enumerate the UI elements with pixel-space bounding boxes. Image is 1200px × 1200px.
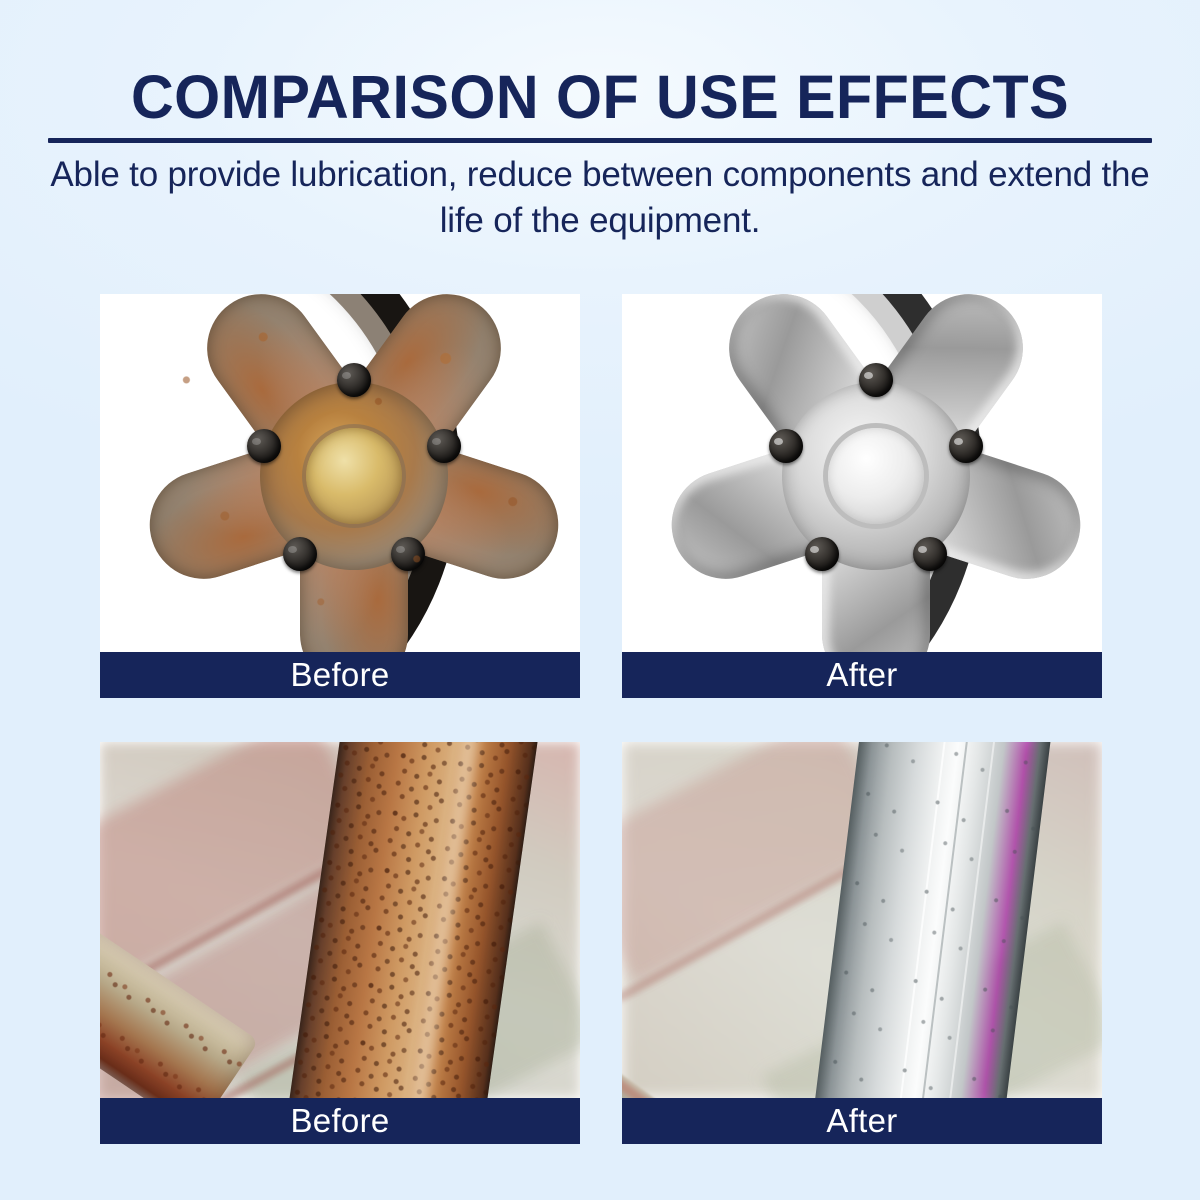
lug-nut (913, 537, 947, 571)
clean-pipe-illustration (622, 742, 1102, 1098)
pipe-before-image (100, 742, 580, 1098)
header: COMPARISON OF USE EFFECTS Able to provid… (0, 0, 1200, 130)
lug-nut (949, 429, 983, 463)
lug-nut (391, 537, 425, 571)
panel-wheel-before: Before (100, 294, 580, 698)
comparison-infographic: COMPARISON OF USE EFFECTS Able to provid… (0, 0, 1200, 1200)
pipe-after-image (622, 742, 1102, 1098)
lug-nut (247, 429, 281, 463)
wheel-after-image (622, 294, 1102, 652)
clean-wheel-illustration (622, 294, 1102, 652)
panel-label-after: After (622, 1098, 1102, 1144)
lug-nut (859, 363, 893, 397)
lug-nut (769, 429, 803, 463)
lug-nut (283, 537, 317, 571)
panel-wheel-after: After (622, 294, 1102, 698)
wheel-face (204, 326, 504, 626)
panel-label-before: Before (100, 652, 580, 698)
comparison-grid: Before (100, 294, 1100, 1142)
hub-cap (828, 428, 924, 524)
panel-label-after: After (622, 652, 1102, 698)
title-divider (48, 138, 1152, 143)
wheel-face (726, 326, 1026, 626)
page-title: COMPARISON OF USE EFFECTS (18, 0, 1182, 130)
panel-pipe-before: Before (100, 742, 580, 1146)
wheel-before-image (100, 294, 580, 652)
lug-nut (337, 363, 371, 397)
panel-pipe-after: After (622, 742, 1102, 1146)
rusty-wheel-illustration (100, 294, 580, 652)
lug-nut (427, 429, 461, 463)
lug-nut (805, 537, 839, 571)
page-subtitle: Able to provide lubrication, reduce betw… (45, 152, 1155, 244)
rusty-pipe-illustration (100, 742, 580, 1098)
panel-label-before: Before (100, 1098, 580, 1144)
hub-cap (306, 428, 402, 524)
